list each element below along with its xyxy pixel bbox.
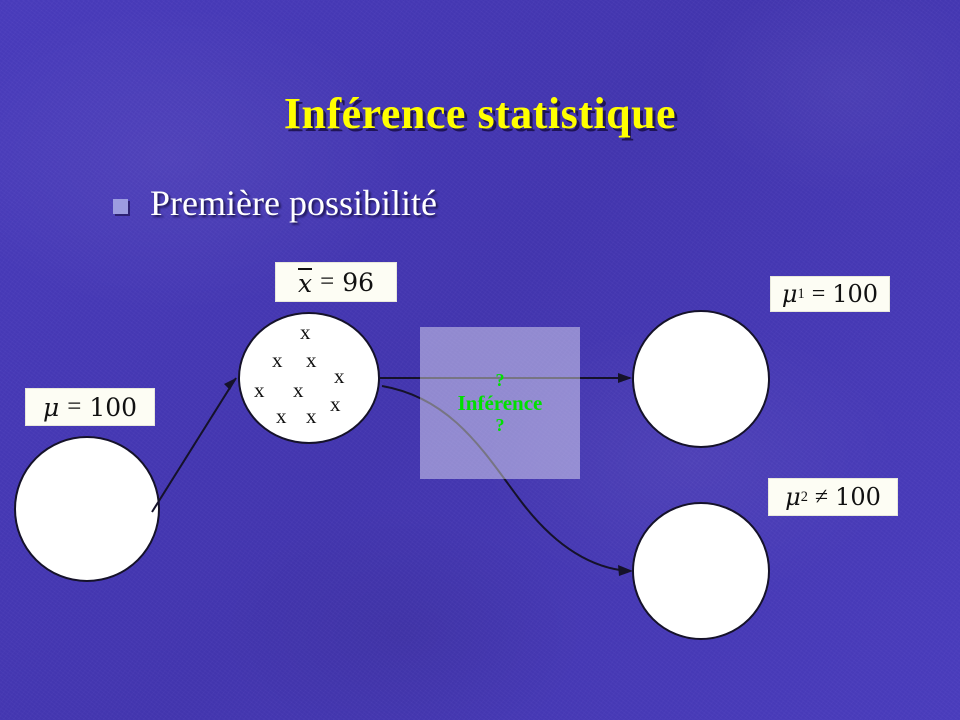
formula-sample-mean: x = 96 (275, 262, 397, 302)
square-bullet-icon (113, 199, 128, 214)
formula-population-mean-rel: = (59, 393, 89, 421)
formula-population-mean-value: 100 (89, 393, 137, 422)
bullet-item-label: Première possibilité (150, 182, 437, 224)
arrow-population-to-sample (152, 378, 236, 512)
formula-hypothesis-2-var: μ (785, 483, 801, 511)
population-circle (14, 436, 160, 582)
formula-hypothesis-1-value: 100 (832, 280, 878, 308)
slide-canvas: Inférence statistique Première possibili… (0, 0, 960, 720)
inference-panel: ? Inférence ? (420, 327, 580, 479)
formula-sample-mean-rel: = (312, 268, 342, 296)
formula-population-mean: μ = 100 (25, 388, 155, 426)
formula-hypothesis-1-rel: = (805, 281, 833, 308)
formula-hypothesis-2-sub: 2 (801, 489, 808, 506)
inference-question-top: ? (496, 371, 505, 390)
formula-hypothesis-1: μ1 = 100 (770, 276, 890, 312)
sample-circle (238, 312, 380, 444)
formula-hypothesis-2: μ2 ≠ 100 (768, 478, 898, 516)
hypothesis-2-circle (632, 502, 770, 640)
formula-population-mean-var: μ (43, 393, 59, 422)
formula-hypothesis-1-sub: 1 (798, 286, 805, 303)
inference-panel-label: Inférence (458, 392, 543, 414)
formula-sample-mean-value: 96 (342, 268, 374, 297)
formula-hypothesis-2-rel: ≠ (808, 484, 835, 511)
bullet-item: Première possibilité (113, 182, 437, 224)
page-title: Inférence statistique (0, 88, 960, 139)
formula-hypothesis-1-var: μ (782, 280, 798, 308)
formula-hypothesis-2-value: 100 (835, 483, 881, 511)
formula-sample-mean-var: x (298, 268, 312, 296)
hypothesis-1-circle (632, 310, 770, 448)
inference-question-bottom: ? (496, 416, 505, 435)
